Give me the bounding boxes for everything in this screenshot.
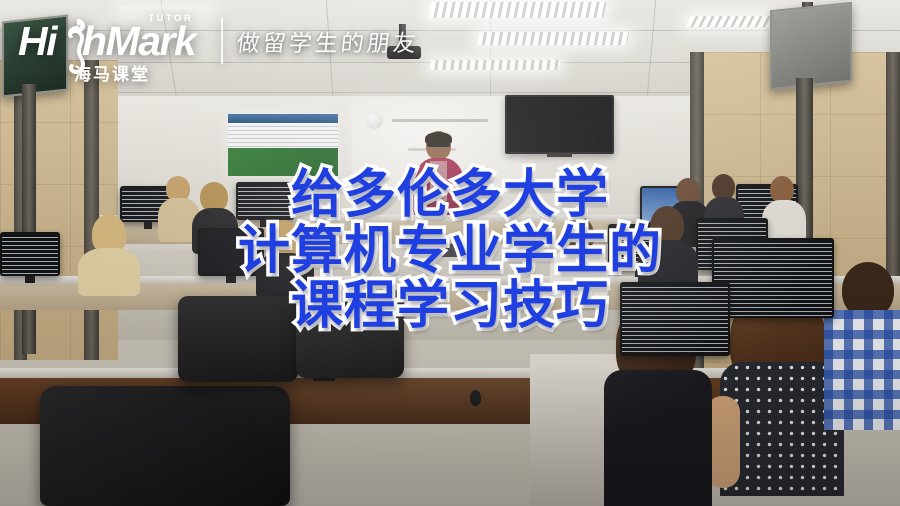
monitor — [236, 182, 294, 220]
projected-slide-left — [228, 114, 338, 176]
logo-mark: Hi hMark TUTOR 海马课堂 — [18, 22, 195, 61]
monitor-pole — [22, 84, 36, 354]
brand-tagline: 做留学生的朋友 — [235, 24, 421, 58]
acoustic-panels-left — [0, 60, 118, 360]
brand-logo[interactable]: Hi hMark TUTOR 海马课堂 做留学生的朋友 — [18, 18, 419, 64]
ceiling-light — [477, 32, 629, 45]
monitor — [712, 238, 834, 318]
office-chair — [40, 386, 290, 506]
logo-word-hi: Hi — [18, 22, 56, 61]
logo-divider — [221, 18, 223, 64]
monitor — [0, 232, 60, 276]
mouse — [470, 390, 481, 406]
monitor — [198, 228, 264, 276]
logo-word-hmark: hMark — [82, 22, 195, 61]
seahorse-icon — [64, 18, 90, 76]
monitor — [620, 282, 730, 356]
promo-banner: Hi hMark TUTOR 海马课堂 做留学生的朋友 给多伦多大学 计算机专业… — [0, 0, 900, 506]
slide-logo-icon — [366, 112, 383, 129]
logo-tutor-label: TUTOR — [148, 13, 193, 24]
wall-tv — [505, 95, 614, 154]
office-chair — [296, 290, 404, 378]
ceiling-light — [429, 60, 560, 70]
ceiling-light — [428, 2, 606, 18]
office-chair — [178, 296, 298, 382]
